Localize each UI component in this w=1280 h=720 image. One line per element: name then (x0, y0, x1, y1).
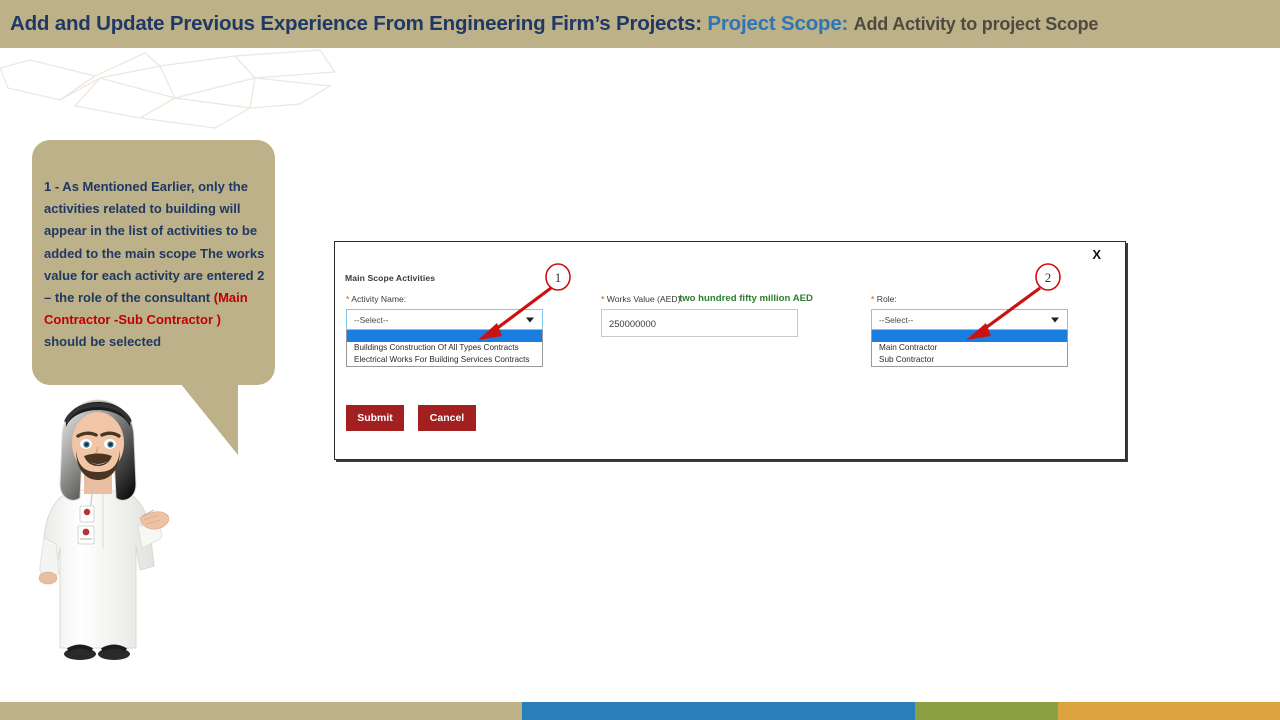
works-value-label-text: Works Value (AED): (607, 294, 683, 304)
bottom-color-bars (0, 702, 1280, 720)
bubble-note-2-post: should be selected (44, 334, 161, 349)
field-activity-name: * Activity Name: --Select-- --Select-- B… (346, 294, 543, 367)
chevron-down-icon[interactable] (526, 317, 534, 322)
role-selected-value: --Select-- (872, 315, 913, 325)
emirati-man-avatar (18, 398, 178, 673)
chevron-down-icon[interactable] (1051, 317, 1059, 322)
field-works-value: * Works Value (AED): two hundred fifty m… (601, 294, 798, 337)
slide-header: Add and Update Previous Experience From … (0, 0, 1280, 48)
page-title-section: Project Scope: (707, 12, 848, 35)
activity-name-option-list[interactable]: --Select-- Buildings Construction Of All… (346, 330, 543, 367)
slide-canvas: Add and Update Previous Experience From … (0, 0, 1280, 720)
role-option-main-contractor[interactable]: Main Contractor (872, 342, 1067, 354)
role-label-text: Role: (877, 294, 897, 304)
activity-name-selected-value: --Select-- (347, 315, 388, 325)
section-title: Main Scope Activities (345, 273, 435, 283)
activity-name-option-buildings[interactable]: Buildings Construction Of All Types Cont… (347, 342, 542, 354)
works-value-label: * Works Value (AED): two hundred fifty m… (601, 294, 798, 304)
cancel-button[interactable]: Cancel (418, 405, 476, 431)
activity-name-select[interactable]: --Select-- (346, 309, 543, 330)
works-value-input-value: 250000000 (602, 318, 656, 329)
field-role: * Role: --Select-- --Select-- Main Contr… (871, 294, 1068, 367)
role-option-select[interactable]: --Select-- (872, 330, 1067, 342)
bubble-note-1: 1 - As Mentioned Earlier, only the activ… (44, 179, 264, 283)
speech-bubble-tail (168, 383, 238, 455)
role-label: * Role: (871, 294, 1068, 304)
add-activity-dialog: X Main Scope Activities * Activity Name:… (334, 241, 1126, 460)
bottom-bar-tan (0, 702, 522, 720)
page-title-subsection: Add Activity to project Scope (854, 14, 1099, 34)
activity-name-label-text: Activity Name: (351, 294, 406, 304)
works-value-input[interactable]: 250000000 (601, 309, 798, 337)
page-title: Add and Update Previous Experience From … (0, 12, 1098, 36)
required-marker: * (601, 294, 604, 304)
bottom-bar-orange (1058, 702, 1280, 720)
activity-name-label: * Activity Name: (346, 294, 543, 304)
role-select[interactable]: --Select-- (871, 309, 1068, 330)
works-value-annotation: two hundred fifty million AED (679, 293, 813, 304)
required-marker: * (871, 294, 874, 304)
role-option-list[interactable]: --Select-- Main Contractor Sub Contracto… (871, 330, 1068, 367)
required-marker: * (346, 294, 349, 304)
activity-name-option-electrical[interactable]: Electrical Works For Building Services C… (347, 354, 542, 366)
role-option-sub-contractor[interactable]: Sub Contractor (872, 354, 1067, 366)
speech-bubble-text: 1 - As Mentioned Earlier, only the activ… (44, 176, 266, 354)
submit-button[interactable]: Submit (346, 405, 404, 431)
activity-name-option-select[interactable]: --Select-- (347, 330, 542, 342)
close-icon[interactable]: X (1092, 248, 1101, 261)
bottom-bar-green (915, 702, 1058, 720)
page-title-main: Add and Update Previous Experience From … (10, 12, 702, 35)
bottom-bar-blue (522, 702, 915, 720)
